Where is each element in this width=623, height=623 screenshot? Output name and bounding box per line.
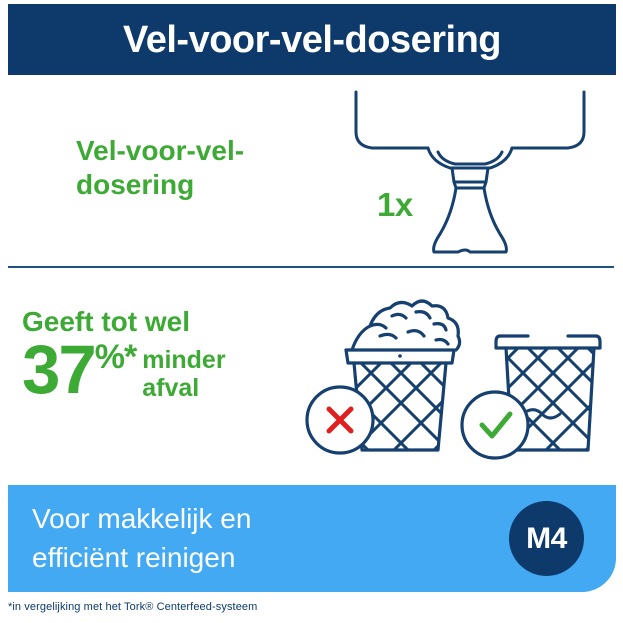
waste-figure-row: 37 %* minder afval (22, 338, 322, 402)
infographic-root: Vel-voor-vel-dosering Vel-voor-vel- dose… (0, 0, 623, 623)
waste-suffix-line2: afval (142, 374, 199, 402)
header-bar: Vel-voor-vel-dosering (8, 4, 616, 75)
waste-heading-block: Geeft tot wel 37 %* minder afval (22, 308, 322, 402)
waste-percentage-number: 37 (22, 338, 95, 401)
dispensing-heading: Vel-voor-vel- dosering (76, 134, 326, 202)
dispensing-heading-line2: dosering (76, 169, 194, 200)
banner-text: Voor makkelijk en efficiënt reinigen (32, 500, 251, 577)
check-badge (462, 392, 528, 458)
waste-suffix: minder afval (136, 338, 225, 402)
footnote: *in vergelijking met het Tork® Centerfee… (8, 601, 257, 614)
m4-badge: M4 (509, 501, 584, 576)
sheet-count-label: 1x (377, 188, 413, 221)
waste-bins-illustration (296, 288, 616, 463)
cross-badge (307, 387, 373, 453)
section-divider (8, 266, 614, 268)
dispenser-illustration (320, 84, 620, 264)
waste-percent-symbol: %* (95, 338, 136, 374)
dispensing-heading-line1: Vel-voor-vel- (76, 135, 244, 166)
banner-text-line2: efficiënt reinigen (32, 542, 235, 573)
m4-badge-label: M4 (526, 524, 567, 554)
waste-suffix-line1: minder (142, 346, 225, 374)
page-title: Vel-voor-vel-dosering (123, 21, 501, 59)
overflow-heap (352, 301, 460, 350)
banner-text-line1: Voor makkelijk en (32, 503, 251, 534)
bottom-banner: Voor makkelijk en efficiënt reinigen M4 (8, 485, 616, 592)
